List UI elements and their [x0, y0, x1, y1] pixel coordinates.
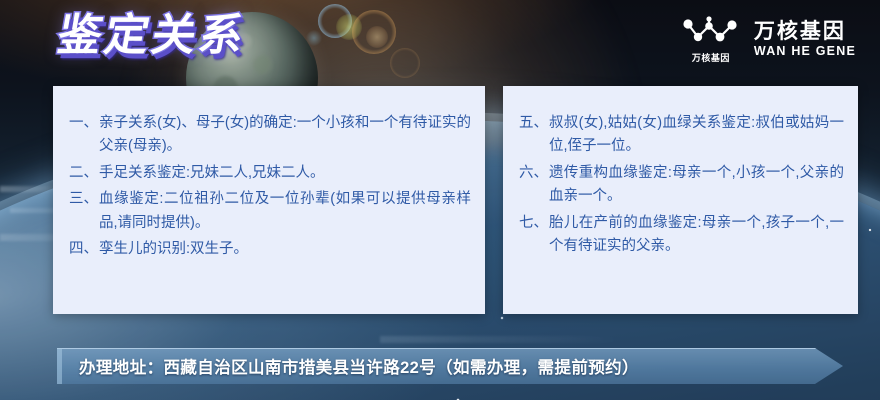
list-item-number: 六、 [519, 162, 549, 185]
list-item: 二、 手足关系鉴定:兄妹二人,兄妹二人。 [69, 162, 471, 185]
poster-canvas: 鉴定关系 [0, 0, 880, 400]
list-item-number: 七、 [519, 212, 549, 235]
list-item: 七、 胎儿在产前的血缘鉴定:母亲一个,孩子一个,一个有待证实的父亲。 [519, 212, 844, 259]
list-item-number: 五、 [519, 112, 549, 135]
list-item: 六、 遗传重构血缘鉴定:母亲一个,小孩一个,父亲的血亲一个。 [519, 162, 844, 209]
lens-flare-icon [366, 26, 388, 48]
relationship-list-panel-right: 五、 叔叔(女),姑姑(女)血绿关系鉴定:叔伯或姑妈一位,侄子一位。 六、 遗传… [503, 86, 858, 314]
lens-flare-icon [390, 48, 420, 78]
address-banner: 办理地址：西藏自治区山南市措美县当许路22号（如需办理，需提前预约） [57, 348, 843, 384]
logo-name-cn: 万核基因 [754, 21, 856, 42]
list-item-text: 亲子关系(女)、母子(女)的确定:一个小孩和一个有待证实的父亲(母亲)。 [99, 112, 471, 159]
list-item-text: 血缘鉴定:二位祖孙二位及一位孙辈(如果可以提供母亲样品,请同时提供)。 [99, 188, 471, 235]
address-text: 办理地址：西藏自治区山南市措美县当许路22号（如需办理，需提前预约） [79, 348, 639, 384]
logo-wordmark: 万核基因 WAN HE GENE [754, 21, 856, 58]
list-item-number: 三、 [69, 188, 99, 211]
list-item: 一、 亲子关系(女)、母子(女)的确定:一个小孩和一个有待证实的父亲(母亲)。 [69, 112, 471, 159]
list-item-number: 一、 [69, 112, 99, 135]
logo-name-en: WAN HE GENE [754, 45, 856, 58]
logo-mark: 万核基因 [681, 16, 741, 63]
lens-flare-icon [306, 30, 322, 46]
list-item-text: 胎儿在产前的血缘鉴定:母亲一个,孩子一个,一个有待证实的父亲。 [549, 212, 844, 259]
brand-logo: 万核基因 万核基因 WAN HE GENE [681, 16, 856, 63]
list-item-text: 孪生儿的识别:双生子。 [99, 238, 471, 261]
logo-mark-sublabel: 万核基因 [692, 54, 730, 63]
list-item-text: 遗传重构血缘鉴定:母亲一个,小孩一个,父亲的血亲一个。 [549, 162, 844, 209]
molecule-icon [681, 16, 741, 51]
list-item-text: 叔叔(女),姑姑(女)血绿关系鉴定:叔伯或姑妈一位,侄子一位。 [549, 112, 844, 159]
list-item-number: 四、 [69, 238, 99, 261]
list-item: 五、 叔叔(女),姑姑(女)血绿关系鉴定:叔伯或姑妈一位,侄子一位。 [519, 112, 844, 159]
page-title: 鉴定关系 [54, 14, 250, 58]
address-banner-left-cap [57, 348, 62, 384]
list-item-number: 二、 [69, 162, 99, 185]
list-item: 四、 孪生儿的识别:双生子。 [69, 238, 471, 261]
list-item: 三、 血缘鉴定:二位祖孙二位及一位孙辈(如果可以提供母亲样品,请同时提供)。 [69, 188, 471, 235]
relationship-list-panel-left: 一、 亲子关系(女)、母子(女)的确定:一个小孩和一个有待证实的父亲(母亲)。 … [53, 86, 485, 314]
list-item-text: 手足关系鉴定:兄妹二人,兄妹二人。 [99, 162, 471, 185]
